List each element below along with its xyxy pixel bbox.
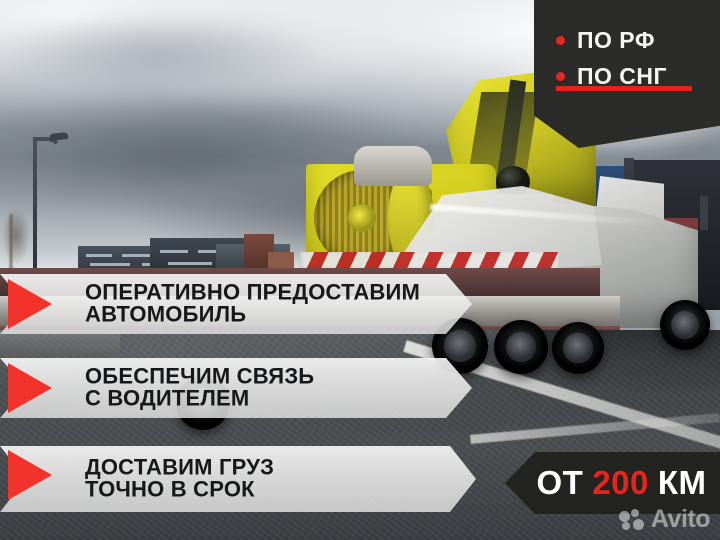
feature-banner-3: ДОСТАВИМ ГРУЗ ТОЧНО В СРОК — [0, 446, 476, 512]
badge-underline-rule — [556, 86, 692, 91]
feature-banner-2: ОБЕСПЕЧИМ СВЯЗЬ С ВОДИТЕЛЕМ — [0, 358, 472, 418]
arrow-marker-icon — [8, 363, 52, 413]
feature-banner-1: ОПЕРАТИВНО ПРЕДОСТАВИМ АВТОМОБИЛЬ — [0, 274, 472, 334]
coverage-item-rf: ПО РФ — [556, 22, 716, 58]
feature-banner-3-text: ДОСТАВИМ ГРУЗ ТОЧНО В СРОК — [85, 457, 274, 502]
bullet-icon — [556, 36, 565, 45]
trailer-wheel — [494, 320, 548, 374]
advertisement-banner: ПО РФ ПО СНГ ОПЕРАТИВНО ПРЕДОСТАВИМ АВТО… — [0, 0, 720, 540]
avito-wordmark: Avito — [651, 505, 710, 534]
avito-dots-logo-icon — [619, 509, 645, 531]
distance-banner-inner: ОТ 200 КМ — [518, 464, 706, 502]
arrow-marker-icon — [8, 450, 52, 500]
street-lamp-arm — [33, 137, 63, 163]
coverage-badge-list: ПО РФ ПО СНГ — [556, 22, 716, 94]
bullet-icon — [556, 72, 565, 81]
cable-drum-hub — [348, 204, 376, 232]
arrow-marker-icon — [8, 279, 52, 329]
rig-grey-cover — [354, 146, 432, 186]
trailer-wheel — [552, 322, 604, 374]
truck-mirror — [700, 196, 708, 230]
distance-unit: КМ — [658, 464, 707, 502]
distance-prefix: ОТ — [536, 464, 583, 502]
coverage-label-rf: ПО РФ — [577, 27, 655, 54]
truck-wheel — [660, 300, 710, 350]
distance-value: 200 — [592, 464, 649, 502]
feature-banner-1-text: ОПЕРАТИВНО ПРЕДОСТАВИМ АВТОМОБИЛЬ — [85, 282, 420, 327]
feature-banner-2-text: ОБЕСПЕЧИМ СВЯЗЬ С ВОДИТЕЛЕМ — [85, 366, 314, 411]
avito-watermark: Avito — [619, 505, 710, 534]
